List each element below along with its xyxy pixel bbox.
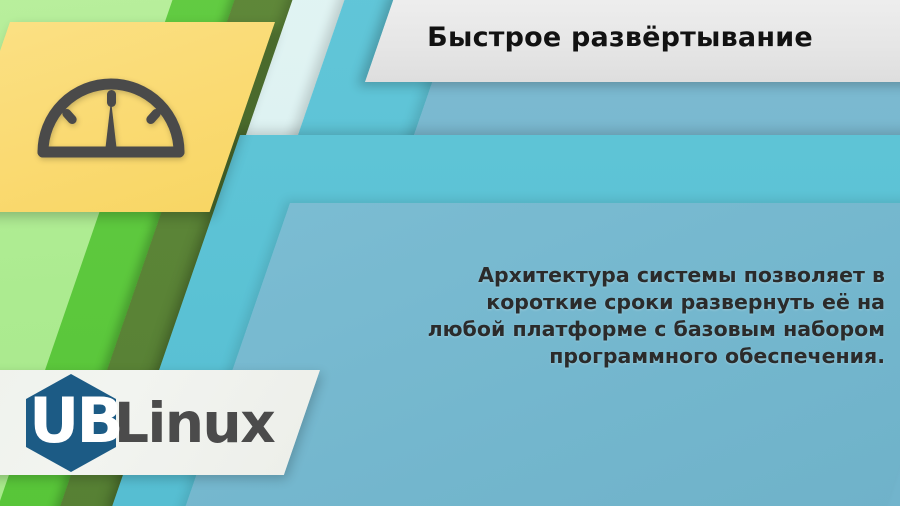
ub-hexagon-icon: UB [24, 373, 118, 473]
body-line: Архитектура системы позволяет в [400, 262, 885, 289]
logo-wordmark: Linux [114, 394, 274, 452]
body-text: Архитектура системы позволяет в короткие… [400, 262, 885, 370]
page-title: Быстрое развёртывание [360, 22, 880, 53]
logo-monogram: UB [29, 390, 121, 452]
body-line: короткие сроки развернуть её на [400, 289, 885, 316]
body-line: программного обеспечения. [400, 343, 885, 370]
brand-logo: UB Linux [24, 376, 274, 470]
speedometer-gauge-icon [33, 62, 189, 162]
body-line: любой платформе с базовым набором [400, 316, 885, 343]
slide-canvas: UB Быстрое развёртывание Архитектура сис… [0, 0, 900, 506]
